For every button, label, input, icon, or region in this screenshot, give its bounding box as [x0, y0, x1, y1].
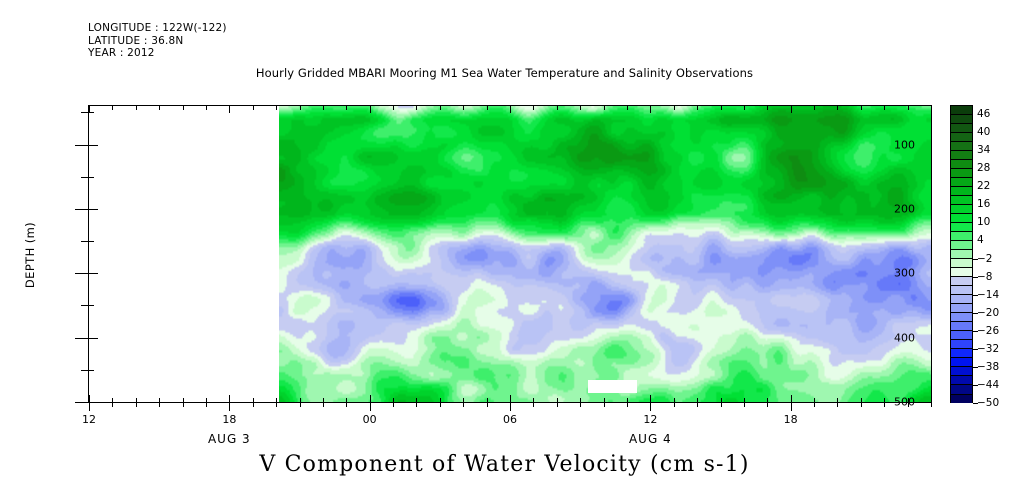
x-axis-top-minor-tick: [136, 106, 137, 110]
x-axis-minor-tick: [604, 402, 605, 407]
y-axis-tick-inner: [89, 209, 98, 210]
colorbar-label: 40: [977, 126, 990, 138]
x-axis-minor-tick: [674, 402, 675, 407]
x-axis-top-minor-tick: [861, 106, 862, 110]
x-axis-minor-tick: [884, 402, 885, 407]
data-gap-region: [588, 380, 637, 393]
y-axis-label: 400: [894, 331, 915, 344]
x-axis-top-minor-tick: [908, 106, 909, 110]
y-axis-tick: [75, 145, 89, 146]
colorbar-band: [950, 231, 973, 240]
y-axis-tick: [75, 402, 89, 403]
y-axis-minor-tick: [81, 370, 89, 371]
x-axis-minor-tick-inner: [884, 398, 885, 402]
colorbar-band: [950, 258, 973, 267]
y-axis-minor-tick: [81, 112, 89, 113]
colorbar-tick: [973, 403, 978, 404]
x-axis-top-minor-tick: [463, 106, 464, 110]
x-axis-minor-tick: [323, 402, 324, 407]
y-axis-tick-inner: [89, 273, 98, 274]
colorbar-band: [950, 168, 973, 177]
x-axis-top-minor-tick: [744, 106, 745, 110]
x-axis-minor-tick-inner: [837, 398, 838, 402]
colorbar-band: [950, 321, 973, 330]
x-axis-day-label: AUG 4: [629, 432, 672, 446]
colorbar-band: [950, 132, 973, 141]
x-axis-top-minor-tick: [604, 106, 605, 110]
y-axis-minor-tick-inner: [89, 241, 94, 242]
latitude-text: LATITUDE : 36.8N: [88, 35, 227, 48]
colorbar-band: [950, 366, 973, 375]
x-axis-minor-tick: [487, 402, 488, 407]
colorbar-band: [950, 204, 973, 213]
x-axis-tick: [791, 402, 792, 411]
x-axis-minor-tick: [440, 402, 441, 407]
colorbar-band: [950, 394, 973, 403]
y-axis-tick-inner: [89, 145, 98, 146]
colorbar-band: [950, 195, 973, 204]
x-axis-top-minor-tick: [814, 106, 815, 110]
x-axis-minor-tick-inner: [674, 398, 675, 402]
x-axis-top-minor-tick: [697, 106, 698, 110]
x-axis-day-label: AUG 3: [208, 432, 251, 446]
x-axis-minor-tick-inner: [136, 398, 137, 402]
x-axis-tick: [510, 402, 511, 411]
colorbar-band: [950, 249, 973, 258]
colorbar-band: [950, 222, 973, 231]
colorbar-band: [950, 312, 973, 321]
x-axis-top-tick: [370, 106, 371, 113]
colorbar-band: [950, 348, 973, 357]
x-axis-label: 18: [784, 413, 798, 426]
x-axis-top-tick: [229, 106, 230, 113]
x-axis-top-minor-tick: [627, 106, 628, 110]
x-axis-minor-tick: [276, 402, 277, 407]
colorbar-label: −20: [977, 307, 999, 319]
x-axis-minor-tick-inner: [604, 398, 605, 402]
plot-area: 100200300400500121800061218AUG 3AUG 4: [88, 105, 932, 403]
x-axis-top-minor-tick: [931, 106, 932, 110]
colorbar-band: [950, 330, 973, 339]
x-axis-minor-tick-inner: [814, 398, 815, 402]
x-axis-top-minor-tick: [323, 106, 324, 110]
x-axis-minor-tick-inner: [580, 398, 581, 402]
x-axis-minor-tick: [580, 402, 581, 407]
x-axis-minor-tick: [533, 402, 534, 407]
x-axis-minor-tick-inner: [931, 398, 932, 402]
x-axis-minor-tick-inner: [183, 398, 184, 402]
x-axis-minor-tick: [814, 402, 815, 407]
colorbar-band: [950, 357, 973, 366]
colorbar-tick: [973, 259, 978, 260]
colorbar-tick: [973, 295, 978, 296]
x-axis-top-minor-tick: [837, 106, 838, 110]
figure-caption: V Component of Water Velocity (cm s-1): [0, 452, 1009, 477]
x-axis-label: 06: [503, 413, 517, 426]
x-axis-minor-tick: [931, 402, 932, 407]
colorbar-label: −26: [977, 325, 999, 337]
x-axis-minor-tick-inner: [416, 398, 417, 402]
y-axis-minor-tick: [81, 241, 89, 242]
colorbar-band: [950, 186, 973, 195]
y-axis-tick: [75, 209, 89, 210]
x-axis-minor-tick-inner: [112, 398, 113, 402]
colorbar-band: [950, 177, 973, 186]
y-axis-label: 100: [894, 138, 915, 151]
y-axis-label: 500: [894, 396, 915, 409]
colorbar-label: 10: [977, 216, 990, 228]
colorbar-band: [950, 285, 973, 294]
x-axis-top-minor-tick: [159, 106, 160, 110]
x-axis-minor-tick: [136, 402, 137, 407]
x-axis-tick: [370, 402, 371, 411]
x-axis-minor-tick-inner: [463, 398, 464, 402]
colorbar-label: −44: [977, 379, 999, 391]
x-axis-minor-tick-inner: [697, 398, 698, 402]
x-axis-minor-tick-inner: [721, 398, 722, 402]
x-axis-top-tick: [791, 106, 792, 113]
colorbar-tick: [973, 313, 978, 314]
y-axis-tick-inner: [89, 338, 98, 339]
colorbar-tick: [973, 277, 978, 278]
x-axis-top-minor-tick: [721, 106, 722, 110]
x-axis-top-tick: [89, 106, 90, 113]
x-axis-minor-tick-inner: [346, 398, 347, 402]
x-axis-label: 18: [222, 413, 236, 426]
heatmap-field-clip: [89, 106, 931, 402]
x-axis-minor-tick: [627, 402, 628, 407]
colorbar-label: −32: [977, 343, 999, 355]
y-axis-tick-inner: [89, 402, 98, 403]
colorbar-band: [950, 375, 973, 384]
x-axis-top-minor-tick: [557, 106, 558, 110]
x-axis-top-minor-tick: [112, 106, 113, 110]
colorbar-band: [950, 276, 973, 285]
y-axis-minor-tick: [81, 305, 89, 306]
x-axis-top-minor-tick: [533, 106, 534, 110]
colorbar-label: 28: [977, 162, 990, 174]
x-axis-top-minor-tick: [580, 106, 581, 110]
y-axis-tick: [75, 338, 89, 339]
x-axis-tick: [229, 402, 230, 411]
x-axis-minor-tick-inner: [557, 398, 558, 402]
x-axis-minor-tick-inner: [440, 398, 441, 402]
colorbar-label: 46: [977, 108, 990, 120]
x-axis-label: 00: [363, 413, 377, 426]
x-axis-minor-tick: [393, 402, 394, 407]
x-axis-tick-inner: [89, 395, 90, 402]
y-axis-minor-tick-inner: [89, 305, 94, 306]
x-axis-top-minor-tick: [206, 106, 207, 110]
y-axis-label: 200: [894, 202, 915, 215]
colorbar-band: [950, 123, 973, 132]
x-axis-tick: [89, 402, 90, 411]
y-axis-minor-tick-inner: [89, 370, 94, 371]
x-axis-top-minor-tick: [276, 106, 277, 110]
colorbar-label: 34: [977, 144, 990, 156]
x-axis-minor-tick: [697, 402, 698, 407]
longitude-text: LONGITUDE : 122W(-122): [88, 22, 227, 35]
colorbar-tick: [973, 385, 978, 386]
x-axis-top-minor-tick: [346, 106, 347, 110]
x-axis-minor-tick-inner: [487, 398, 488, 402]
x-axis-top-minor-tick: [884, 106, 885, 110]
x-axis-top-minor-tick: [440, 106, 441, 110]
colorbar-label: 22: [977, 180, 990, 192]
y-axis-minor-tick-inner: [89, 177, 94, 178]
colorbar-label: 4: [977, 234, 984, 246]
x-axis-minor-tick: [557, 402, 558, 407]
x-axis-minor-tick: [300, 402, 301, 407]
x-axis-top-minor-tick: [767, 106, 768, 110]
x-axis-minor-tick-inner: [323, 398, 324, 402]
colorbar-label: −14: [977, 289, 999, 301]
x-axis-minor-tick-inner: [861, 398, 862, 402]
x-axis-tick-inner: [370, 395, 371, 402]
x-axis-minor-tick-inner: [627, 398, 628, 402]
x-axis-tick: [650, 402, 651, 411]
x-axis-top-minor-tick: [393, 106, 394, 110]
colorbar-band: [950, 114, 973, 123]
x-axis-minor-tick-inner: [206, 398, 207, 402]
y-axis-label: 300: [894, 267, 915, 280]
colorbar-band: [950, 213, 973, 222]
x-axis-top-minor-tick: [487, 106, 488, 110]
colorbar-label: −2: [977, 253, 992, 265]
x-axis-minor-tick-inner: [908, 398, 909, 402]
colorbar-band: [950, 150, 973, 159]
colorbar-band: [950, 105, 973, 114]
colorbar-band: [950, 159, 973, 168]
x-axis-minor-tick-inner: [253, 398, 254, 402]
year-text: YEAR : 2012: [88, 47, 227, 60]
x-axis-top-minor-tick: [253, 106, 254, 110]
colorbar-tick: [973, 331, 978, 332]
heatmap-field: [279, 106, 931, 402]
colorbar-band: [950, 294, 973, 303]
colorbar: 464034282216104−2−8−14−20−26−32−38−44−50: [950, 105, 973, 403]
x-axis-top-tick: [650, 106, 651, 113]
x-axis-tick-inner: [650, 395, 651, 402]
x-axis-minor-tick-inner: [744, 398, 745, 402]
colorbar-label: −8: [977, 271, 992, 283]
x-axis-minor-tick-inner: [393, 398, 394, 402]
y-axis-title: DEPTH (m): [23, 222, 37, 288]
colorbar-label: −50: [977, 397, 999, 409]
colorbar-tick: [973, 367, 978, 368]
x-axis-minor-tick: [861, 402, 862, 407]
x-axis-label: 12: [643, 413, 657, 426]
colorbar-band: [950, 384, 973, 393]
x-axis-tick-inner: [791, 395, 792, 402]
x-axis-minor-tick: [416, 402, 417, 407]
x-axis-minor-tick: [183, 402, 184, 407]
x-axis-minor-tick: [346, 402, 347, 407]
x-axis-top-minor-tick: [674, 106, 675, 110]
colorbar-band: [950, 240, 973, 249]
page-title: Hourly Gridded MBARI Mooring M1 Sea Wate…: [0, 66, 1009, 80]
x-axis-minor-tick-inner: [159, 398, 160, 402]
x-axis-tick-inner: [510, 395, 511, 402]
x-axis-top-minor-tick: [300, 106, 301, 110]
colorbar-label: −38: [977, 361, 999, 373]
x-axis-minor-tick: [253, 402, 254, 407]
x-axis-tick-inner: [229, 395, 230, 402]
colorbar-band: [950, 141, 973, 150]
x-axis-minor-tick-inner: [276, 398, 277, 402]
x-axis-top-minor-tick: [183, 106, 184, 110]
x-axis-minor-tick: [908, 402, 909, 407]
colorbar-band: [950, 339, 973, 348]
colorbar-label: 16: [977, 198, 990, 210]
x-axis-minor-tick: [721, 402, 722, 407]
x-axis-minor-tick: [767, 402, 768, 407]
x-axis-label: 12: [82, 413, 96, 426]
x-axis-minor-tick-inner: [300, 398, 301, 402]
x-axis-top-minor-tick: [416, 106, 417, 110]
x-axis-top-tick: [510, 106, 511, 113]
x-axis-minor-tick: [112, 402, 113, 407]
x-axis-minor-tick-inner: [767, 398, 768, 402]
x-axis-minor-tick: [837, 402, 838, 407]
colorbar-band: [950, 303, 973, 312]
metadata-block: LONGITUDE : 122W(-122) LATITUDE : 36.8N …: [88, 22, 227, 60]
x-axis-minor-tick: [206, 402, 207, 407]
y-axis-minor-tick: [81, 177, 89, 178]
colorbar-tick: [973, 349, 978, 350]
y-axis-tick: [75, 273, 89, 274]
colorbar-band: [950, 267, 973, 276]
x-axis-minor-tick: [159, 402, 160, 407]
x-axis-minor-tick: [744, 402, 745, 407]
x-axis-minor-tick: [463, 402, 464, 407]
x-axis-minor-tick-inner: [533, 398, 534, 402]
